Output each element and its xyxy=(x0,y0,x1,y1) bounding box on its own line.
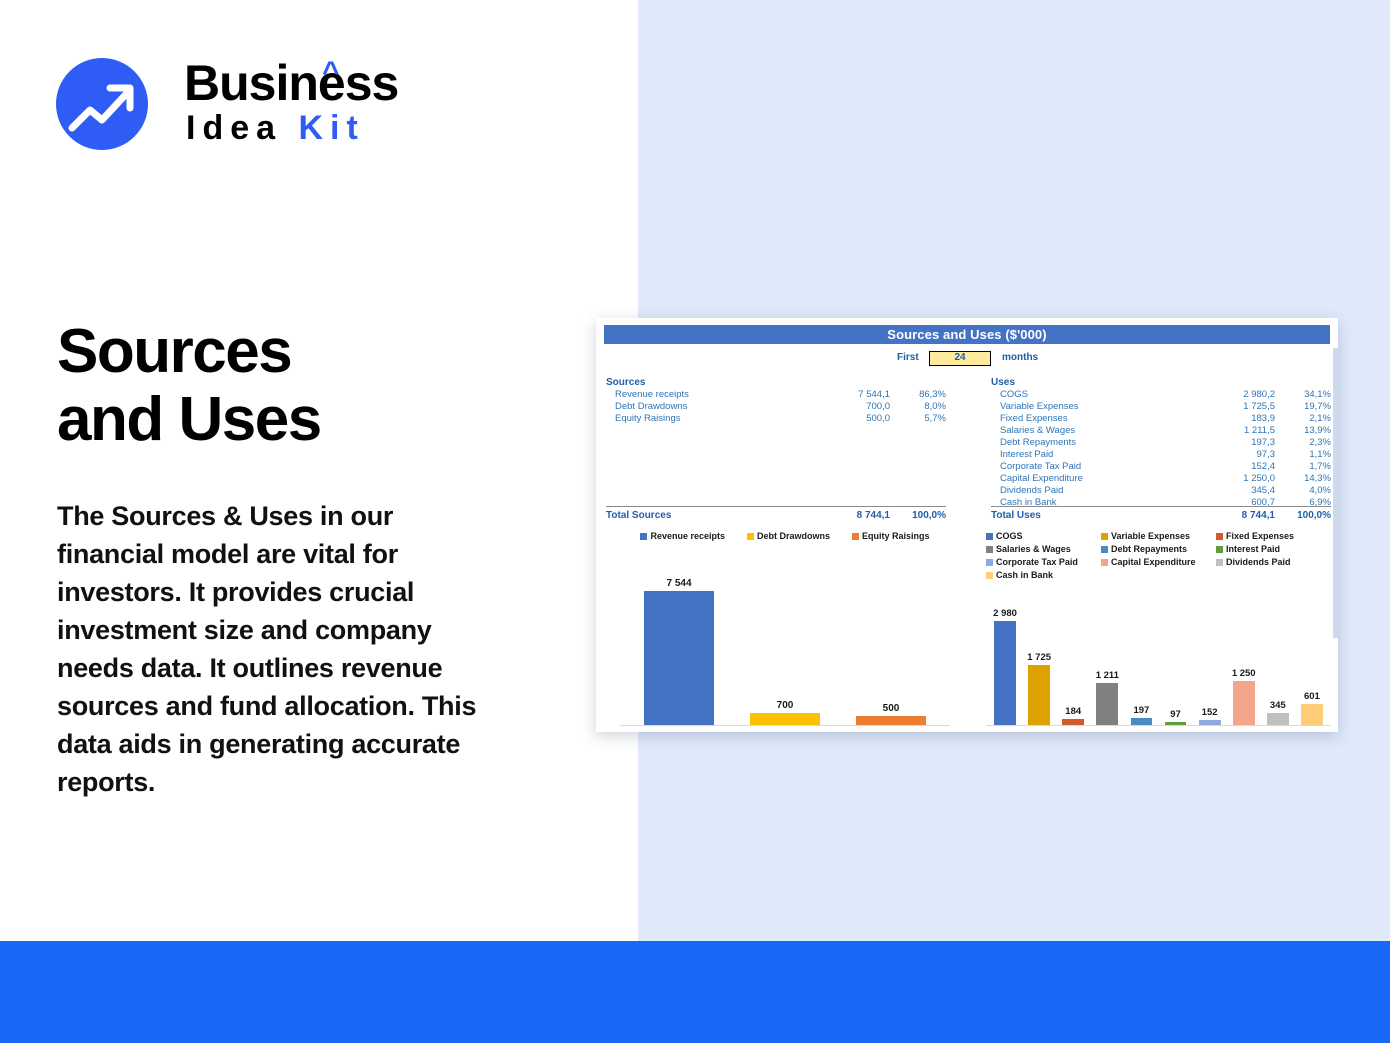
bar-value-label: 184 xyxy=(1065,706,1081,717)
period-prefix-label: First xyxy=(897,352,919,363)
sheet-title: Sources and Uses ($'000) xyxy=(604,325,1330,344)
bar-slot: 1 211 xyxy=(1090,606,1124,725)
bar-slot: 1 250 xyxy=(1227,606,1261,725)
uses-row-pct: 2,1% xyxy=(1275,413,1331,425)
legend-swatch-icon xyxy=(1101,533,1108,540)
legend-swatch-icon xyxy=(1216,533,1223,540)
legend-swatch-icon xyxy=(986,546,993,553)
uses-bar-chart: COGSVariable ExpensesFixed ExpensesSalar… xyxy=(986,530,1331,726)
sources-row-label: Revenue receipts xyxy=(615,389,818,401)
legend-item-label: Revenue receipts xyxy=(650,530,725,543)
table-row: Equity Raisings500,05,7% xyxy=(606,413,946,425)
legend-row: COGSVariable ExpensesFixed Expenses xyxy=(986,530,1331,543)
uses-row-label: COGS xyxy=(1000,389,1203,401)
uses-row-pct: 13,9% xyxy=(1275,425,1331,437)
uses-chart-legend: COGSVariable ExpensesFixed ExpensesSalar… xyxy=(986,530,1331,582)
uses-row-label: Salaries & Wages xyxy=(1000,425,1203,437)
uses-row-value: 97,3 xyxy=(1203,449,1275,461)
bar-slot: 97 xyxy=(1158,606,1192,725)
bar-value-label: 1 250 xyxy=(1232,668,1256,679)
table-row: Dividends Paid345,44,0% xyxy=(991,485,1331,497)
period-selector-row: First 24 months xyxy=(604,351,1330,368)
uses-row-label: Capital Expenditure xyxy=(1000,473,1203,485)
table-row: Interest Paid97,31,1% xyxy=(991,449,1331,461)
uses-row-label: Dividends Paid xyxy=(1000,485,1203,497)
legend-item-label: Debt Drawdowns xyxy=(757,530,830,543)
uses-total-pct: 100,0% xyxy=(1275,508,1331,521)
uses-row-value: 1 725,5 xyxy=(1203,401,1275,413)
bar-slot: 197 xyxy=(1124,606,1158,725)
table-row: Salaries & Wages1 211,513,9% xyxy=(991,425,1331,437)
legend-item[interactable]: Dividends Paid xyxy=(1216,556,1331,569)
legend-item[interactable]: Capital Expenditure xyxy=(1101,556,1216,569)
legend-item[interactable]: Debt Drawdowns xyxy=(747,530,830,543)
brand-accent-circumflex: ^ xyxy=(322,58,340,88)
table-row: Capital Expenditure1 250,014,3% xyxy=(991,473,1331,485)
bar-value-label: 345 xyxy=(1270,700,1286,711)
brand-name-line2-kit: Kit xyxy=(299,109,365,147)
sources-row-pct: 8,0% xyxy=(890,401,946,413)
legend-swatch-icon xyxy=(986,572,993,579)
bar[interactable] xyxy=(1062,719,1084,725)
page-title-line2: and Uses xyxy=(57,386,577,454)
uses-row-value: 1 250,0 xyxy=(1203,473,1275,485)
uses-row-pct: 34,1% xyxy=(1275,389,1331,401)
table-row: Debt Drawdowns700,08,0% xyxy=(606,401,946,413)
brand-logo: Business ^ Idea Kit xyxy=(56,52,446,157)
legend-item-label: Corporate Tax Paid xyxy=(996,556,1078,569)
sources-total-label: Total Sources xyxy=(606,508,818,521)
legend-row: Corporate Tax PaidCapital ExpenditureDiv… xyxy=(986,556,1331,569)
uses-row-value: 152,4 xyxy=(1203,461,1275,473)
legend-item[interactable]: Revenue receipts xyxy=(640,530,725,543)
legend-item[interactable]: Variable Expenses xyxy=(1101,530,1216,543)
uses-total-label: Total Uses xyxy=(991,508,1203,521)
bar-slot: 1 725 xyxy=(1022,606,1056,725)
legend-item-label: Cash in Bank xyxy=(996,569,1053,582)
uses-row-value: 183,9 xyxy=(1203,413,1275,425)
table-row: Fixed Expenses183,92,1% xyxy=(991,413,1331,425)
bar-value-label: 1 725 xyxy=(1027,652,1051,663)
legend-item-label: Equity Raisings xyxy=(862,530,930,543)
legend-item-label: Capital Expenditure xyxy=(1111,556,1196,569)
bar[interactable] xyxy=(1028,665,1050,725)
bar[interactable] xyxy=(1301,704,1323,725)
legend-swatch-icon xyxy=(986,533,993,540)
bar-slot: 7 544 xyxy=(626,574,732,725)
legend-swatch-icon xyxy=(1101,559,1108,566)
bar[interactable] xyxy=(856,716,926,725)
uses-table: Uses COGS2 980,234,1%Variable Expenses1 … xyxy=(991,376,1331,521)
bar[interactable] xyxy=(1096,683,1118,725)
bar-slot: 152 xyxy=(1193,606,1227,725)
sources-row-label: Equity Raisings xyxy=(615,413,818,425)
uses-row-pct: 2,3% xyxy=(1275,437,1331,449)
bar-value-label: 601 xyxy=(1304,691,1320,702)
bar-value-label: 1 211 xyxy=(1096,670,1119,681)
sources-total-row: Total Sources 8 744,1 100,0% xyxy=(606,506,946,521)
bar-value-label: 700 xyxy=(777,700,794,711)
bar-value-label: 152 xyxy=(1202,707,1218,718)
bar-slot: 700 xyxy=(732,574,838,725)
legend-item[interactable]: Fixed Expenses xyxy=(1216,530,1331,543)
legend-item-label: Interest Paid xyxy=(1226,543,1280,556)
bar-slot: 184 xyxy=(1056,606,1090,725)
uses-chart-plot: 2 9801 7251841 211197971521 250345601 xyxy=(986,606,1331,726)
legend-row: Cash in Bank xyxy=(986,569,1331,582)
bar[interactable] xyxy=(994,621,1016,725)
table-row: Debt Repayments197,32,3% xyxy=(991,437,1331,449)
uses-row-value: 2 980,2 xyxy=(1203,389,1275,401)
uses-row-label: Fixed Expenses xyxy=(1000,413,1203,425)
legend-swatch-icon xyxy=(986,559,993,566)
uses-row-pct: 19,7% xyxy=(1275,401,1331,413)
bar[interactable] xyxy=(750,713,820,725)
legend-item[interactable]: Equity Raisings xyxy=(852,530,930,543)
bar-slot: 500 xyxy=(838,574,944,725)
sources-row-pct: 86,3% xyxy=(890,389,946,401)
table-row: Revenue receipts7 544,186,3% xyxy=(606,389,946,401)
bar-value-label: 7 544 xyxy=(666,578,691,589)
legend-swatch-icon xyxy=(640,533,647,540)
sheet-scroll-edge[interactable] xyxy=(1333,348,1338,638)
bar[interactable] xyxy=(1131,718,1153,725)
legend-swatch-icon xyxy=(852,533,859,540)
uses-total-row: Total Uses 8 744,1 100,0% xyxy=(991,506,1331,521)
bar-slot: 2 980 xyxy=(988,606,1022,725)
brand-name-line2-idea: Idea xyxy=(186,109,282,147)
uses-row-label: Interest Paid xyxy=(1000,449,1203,461)
uses-rows: COGS2 980,234,1%Variable Expenses1 725,5… xyxy=(991,389,1331,509)
sources-row-value: 500,0 xyxy=(818,413,890,425)
sources-heading: Sources xyxy=(606,376,946,389)
legend-item-label: Debt Repayments xyxy=(1111,543,1187,556)
sources-row-value: 7 544,1 xyxy=(818,389,890,401)
bar-value-label: 2 980 xyxy=(993,608,1017,619)
legend-item[interactable]: COGS xyxy=(986,530,1101,543)
sources-and-uses-sheet: Sources and Uses ($'000) First 24 months… xyxy=(596,318,1338,732)
bar[interactable] xyxy=(1267,713,1289,725)
bar-slot: 345 xyxy=(1261,606,1295,725)
legend-item-label: Variable Expenses xyxy=(1111,530,1190,543)
sources-total-value: 8 744,1 xyxy=(818,508,890,521)
sources-row-value: 700,0 xyxy=(818,401,890,413)
legend-swatch-icon xyxy=(747,533,754,540)
uses-row-label: Corporate Tax Paid xyxy=(1000,461,1203,473)
uses-row-label: Variable Expenses xyxy=(1000,401,1203,413)
legend-item-label: Salaries & Wages xyxy=(996,543,1071,556)
sources-row-pct: 5,7% xyxy=(890,413,946,425)
uses-row-value: 1 211,5 xyxy=(1203,425,1275,437)
bar[interactable] xyxy=(644,591,714,725)
sources-total-pct: 100,0% xyxy=(890,508,946,521)
legend-swatch-icon xyxy=(1101,546,1108,553)
sources-rows: Revenue receipts7 544,186,3%Debt Drawdow… xyxy=(606,389,946,425)
period-suffix-label: months xyxy=(1002,352,1038,363)
sources-chart-plot: 7 544700500 xyxy=(620,574,950,726)
uses-row-pct: 1,7% xyxy=(1275,461,1331,473)
uses-row-value: 197,3 xyxy=(1203,437,1275,449)
months-input[interactable]: 24 xyxy=(929,351,991,366)
legend-item-label: COGS xyxy=(996,530,1023,543)
uses-row-pct: 4,0% xyxy=(1275,485,1331,497)
uses-row-label: Debt Repayments xyxy=(1000,437,1203,449)
legend-row: Revenue receiptsDebt DrawdownsEquity Rai… xyxy=(620,530,950,543)
page-title: Sources and Uses xyxy=(57,318,577,454)
bar-value-label: 97 xyxy=(1170,709,1181,720)
legend-item[interactable]: Debt Repayments xyxy=(1101,543,1216,556)
table-row: Corporate Tax Paid152,41,7% xyxy=(991,461,1331,473)
bar[interactable] xyxy=(1233,681,1255,725)
uses-row-pct: 14,3% xyxy=(1275,473,1331,485)
sources-chart-legend: Revenue receiptsDebt DrawdownsEquity Rai… xyxy=(620,530,950,543)
table-row: COGS2 980,234,1% xyxy=(991,389,1331,401)
legend-item[interactable]: Corporate Tax Paid xyxy=(986,556,1101,569)
bar[interactable] xyxy=(1165,722,1187,725)
sources-bar-chart: Revenue receiptsDebt DrawdownsEquity Rai… xyxy=(620,530,950,726)
page-description: The Sources & Uses in our financial mode… xyxy=(57,497,502,801)
trending-up-arrow-icon xyxy=(56,58,148,150)
legend-swatch-icon xyxy=(1216,546,1223,553)
brand-name-line1: Business xyxy=(184,54,398,112)
legend-item-label: Dividends Paid xyxy=(1226,556,1291,569)
bar-value-label: 197 xyxy=(1133,705,1149,716)
legend-item[interactable]: Salaries & Wages xyxy=(986,543,1101,556)
bar-slot: 601 xyxy=(1295,606,1329,725)
sources-row-label: Debt Drawdowns xyxy=(615,401,818,413)
legend-item-label: Fixed Expenses xyxy=(1226,530,1294,543)
sources-table: Sources Revenue receipts7 544,186,3%Debt… xyxy=(606,376,946,521)
legend-item[interactable]: Interest Paid xyxy=(1216,543,1331,556)
legend-swatch-icon xyxy=(1216,559,1223,566)
page-title-line1: Sources xyxy=(57,318,577,386)
uses-row-pct: 1,1% xyxy=(1275,449,1331,461)
bar-value-label: 500 xyxy=(883,703,900,714)
uses-row-value: 345,4 xyxy=(1203,485,1275,497)
legend-item[interactable]: Cash in Bank xyxy=(986,569,1101,582)
legend-row: Salaries & WagesDebt RepaymentsInterest … xyxy=(986,543,1331,556)
footer-accent-bar xyxy=(0,941,1390,1043)
table-row: Variable Expenses1 725,519,7% xyxy=(991,401,1331,413)
bar[interactable] xyxy=(1199,720,1221,725)
uses-total-value: 8 744,1 xyxy=(1203,508,1275,521)
uses-heading: Uses xyxy=(991,376,1331,389)
